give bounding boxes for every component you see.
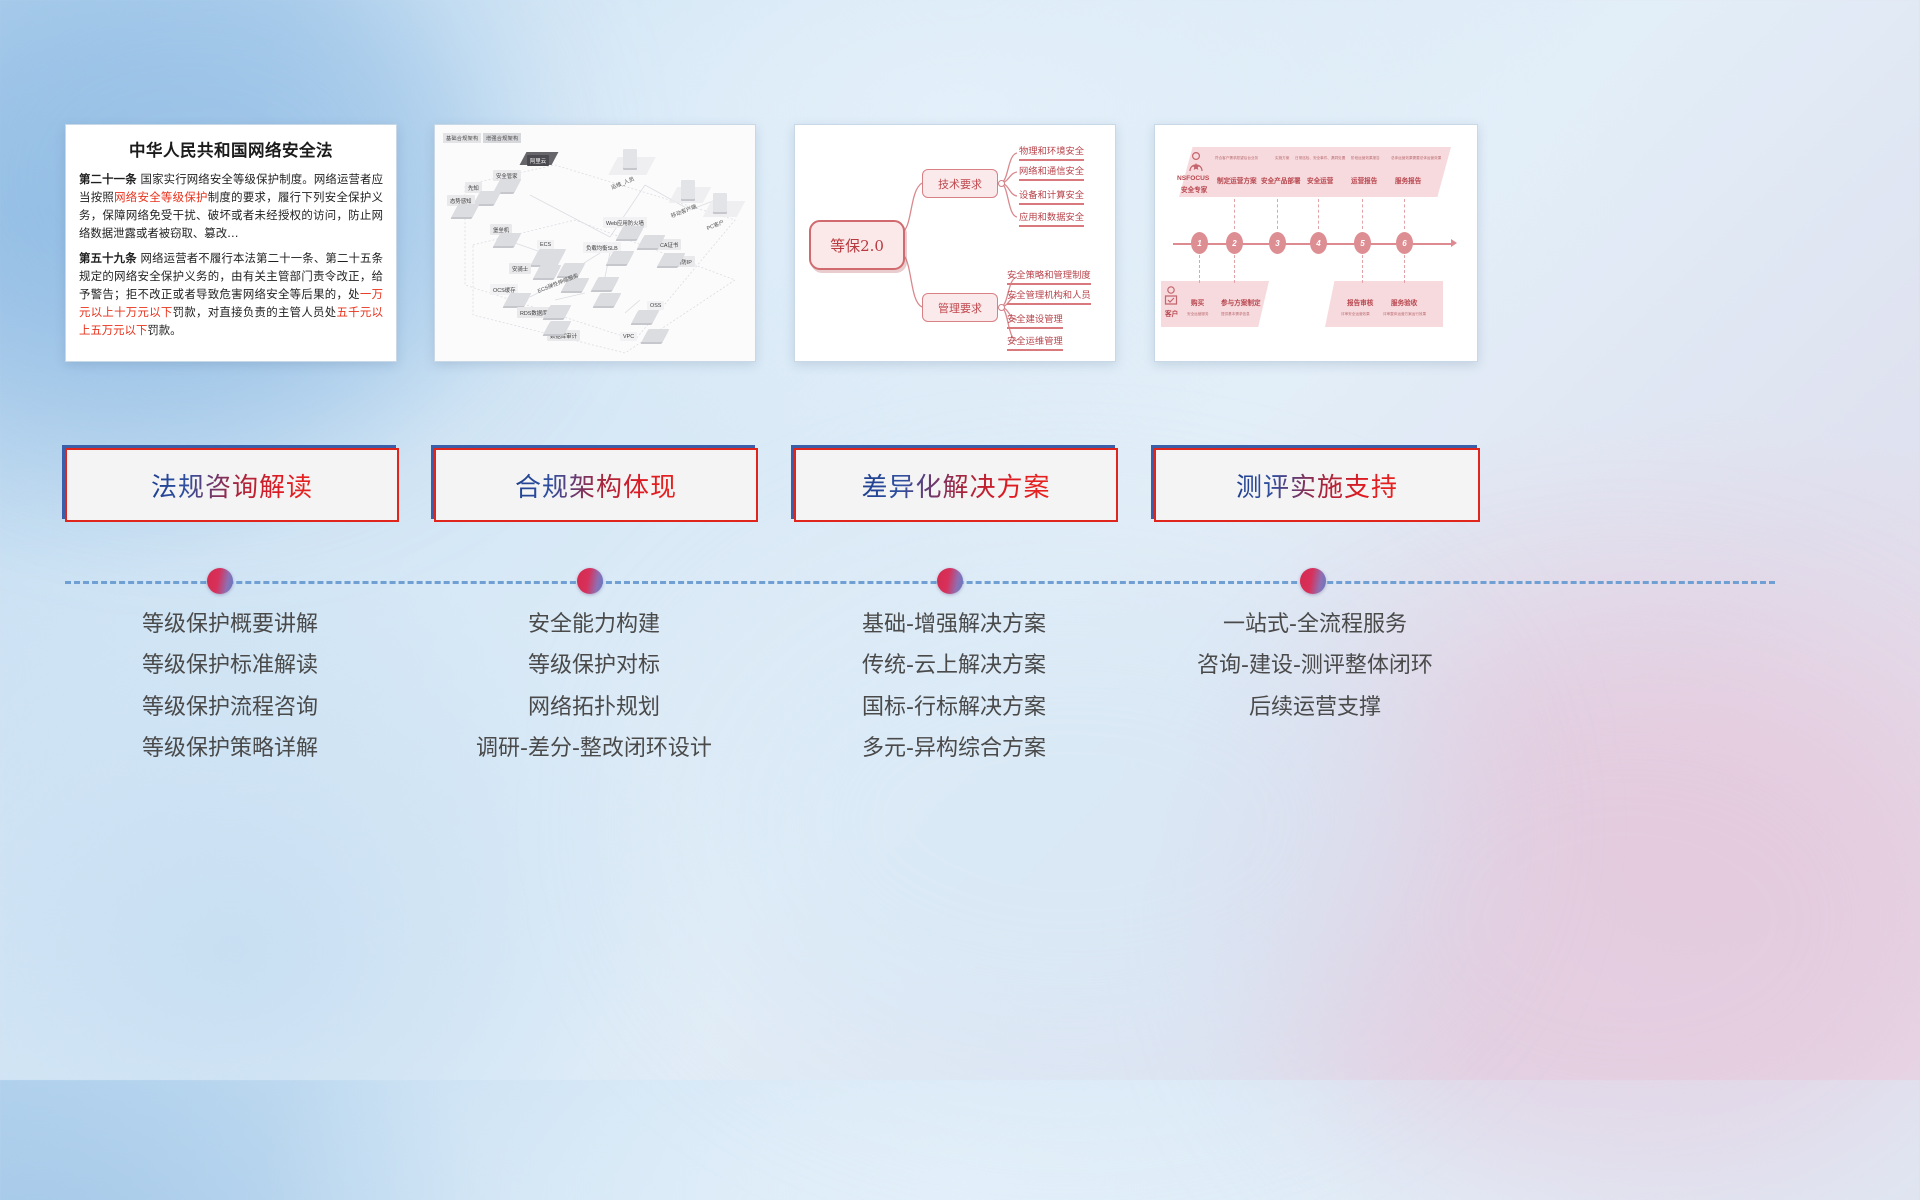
timeline-node-1[interactable]: 1 [1191,232,1208,254]
card-compliance-architecture: 基础合规架构 增强合规架构 阿里云 安全管家 先知 态势感知 堡垒机 ECS 安… [434,124,756,362]
mindmap-leaf-application: 应用和数据安全 [1019,209,1084,227]
customer-label: 客户 [1165,308,1178,318]
law-title: 中华人民共和国网络安全法 [79,137,383,161]
bottom-step-2-sub: 提供基本需求信息 [1221,312,1250,317]
timeline-marker-2[interactable] [577,568,603,594]
mindmap-leaf-org: 安全管理机构和人员 [1007,287,1091,305]
top-step-2-title: 安全产品部署 [1261,175,1301,185]
list-item: 一站式-全流程服务 [1150,604,1480,645]
mindmap-leaf-network: 网络和通信安全 [1019,163,1084,181]
top-step-3-title: 安全运营 [1307,175,1333,185]
title-boxes-row: 法规咨询解读 合规架构体现 差异化解决方案 测评实施支持 [0,448,1920,520]
mindmap-leaf-construction: 安全建设管理 [1007,311,1063,329]
card-dengbao-mindmap: 等保2.0 技术要求 物理和环境安全 网络和通信安全 设备和计算安全 应用和数据… [794,124,1116,362]
bottom-step-3-title: 报告审核 [1347,297,1373,307]
timeline-marker-4[interactable] [1300,568,1326,594]
timeline-node-5[interactable]: 5 [1354,232,1371,254]
law-article-59-mid: 罚款，对直接负责的主管人员处 [173,305,337,319]
mindmap-collapse-icon[interactable] [998,180,1005,187]
mindmap-leaf-physical: 物理和环境安全 [1019,143,1084,161]
mindmap-leaf-device: 设备和计算安全 [1019,187,1084,205]
law-article-59-post: 罚款。 [147,323,181,337]
expert-label-brand: NSFOCUS [1177,175,1209,182]
list-item: 多元-异构综合方案 [794,728,1114,769]
list-item: 安全能力构建 [434,604,754,645]
mindmap-branch-technical: 技术要求 [922,169,998,198]
law-article-21: 第二十一条 国家实行网络安全等级保护制度。网络运营者应当按照网络安全等级保护制度… [79,170,383,242]
card-cybersecurity-law: 中华人民共和国网络安全法 第二十一条 国家实行网络安全等级保护制度。网络运营者应… [65,124,397,362]
bottom-step-1-title: 购买 [1191,297,1204,307]
bottom-step-4-sub: 评审整体运营方案运行效果 [1383,312,1426,317]
mindmap-collapse-icon-2[interactable] [998,304,1005,311]
bottom-step-4-title: 服务验收 [1391,297,1417,307]
timeline-arrow-icon [1451,239,1457,247]
architecture-diagram: 基础合规架构 增强合规架构 阿里云 安全管家 先知 态势感知 堡垒机 ECS 安… [435,125,755,361]
mindmap-leaf-policy: 安全策略和管理制度 [1007,267,1091,285]
top-step-4-title: 运营报告 [1351,175,1377,185]
list-item: 传统-云上解决方案 [794,645,1114,686]
title-label-2: 合规架构体现 [515,467,677,504]
column-assessment-support: 一站式-全流程服务 咨询-建设-测评整体闭环 后续运营支撑 [1150,604,1480,728]
top-step-1-sub: 符合客户需求愿望后台业务 [1215,156,1258,161]
progress-timeline [0,570,1920,594]
list-item: 等级保护流程咨询 [65,687,395,728]
top-step-2-sub: 实施方案 [1275,156,1289,161]
title-label-1: 法规咨询解读 [151,467,313,504]
bottom-step-1-sub: 安全运营服务 [1187,312,1209,317]
arch-tab-enhanced[interactable]: 增强合规架构 [483,133,521,143]
bottom-step-3-sub: 评审安全运营效果 [1341,312,1370,317]
timeline-node-2[interactable]: 2 [1226,232,1243,254]
column-compliance-architecture: 安全能力构建 等级保护对标 网络拓扑规划 调研-差分-整改闭环设计 [434,604,754,769]
expert-person-icon [1187,151,1205,173]
top-step-4-sub: 阶段运营效果报告 [1351,156,1380,161]
list-item: 后续运营支撑 [1150,687,1480,728]
title-box-assessment-support[interactable]: 测评实施支持 [1154,448,1480,522]
list-item: 等级保护概要讲解 [65,604,395,645]
arch-node-ecs: ECS [537,240,554,249]
title-box-differentiated-solutions[interactable]: 差异化解决方案 [794,448,1118,522]
customer-person-icon [1163,285,1179,307]
timeline-node-6[interactable]: 6 [1396,232,1413,254]
column-regulation-consulting: 等级保护概要讲解 等级保护标准解读 等级保护流程咨询 等级保护策略详解 [65,604,395,769]
illustration-cards-row: 中华人民共和国网络安全法 第二十一条 国家实行网络安全等级保护制度。网络运营者应… [0,124,1920,364]
expert-label-role: 安全专家 [1181,184,1207,194]
nsfocus-timeline: NSFOCUS 安全专家 符合客户需求愿望后台业务 制定运营方案 实施方案 安全… [1155,125,1477,361]
timeline-marker-3[interactable] [937,568,963,594]
column-differentiated-solutions: 基础-增强解决方案 传统-云上解决方案 国标-行标解决方案 多元-异构综合方案 [794,604,1114,769]
top-step-1-title: 制定运营方案 [1217,175,1257,185]
top-step-3-sub: 日常巡检、安全事件、漏洞处置 [1295,156,1345,161]
top-step-5-sub: 总体运营效果需要总体运营效果 [1391,156,1441,161]
mindmap: 等保2.0 技术要求 物理和环境安全 网络和通信安全 设备和计算安全 应用和数据… [795,125,1115,361]
list-item: 咨询-建设-测评整体闭环 [1150,645,1480,686]
top-step-5-title: 服务报告 [1395,175,1421,185]
mindmap-root: 等保2.0 [809,220,905,270]
law-document: 中华人民共和国网络安全法 第二十一条 国家实行网络安全等级保护制度。网络运营者应… [66,125,396,361]
list-item: 等级保护标准解读 [65,645,395,686]
title-box-compliance-architecture[interactable]: 合规架构体现 [434,448,758,522]
mindmap-branch-management: 管理要求 [922,293,998,322]
title-label-3: 差异化解决方案 [861,467,1050,504]
timeline-dashed-line [65,581,1775,584]
law-article-59: 第五十九条 网络运营者不履行本法第二十一条、第二十五条规定的网络安全保护义务的，… [79,249,383,339]
card-nsfocus-service-timeline: NSFOCUS 安全专家 符合客户需求愿望后台业务 制定运营方案 实施方案 安全… [1154,124,1478,362]
title-box-regulation-consulting[interactable]: 法规咨询解读 [65,448,399,522]
timeline-node-3[interactable]: 3 [1269,232,1286,254]
timeline-node-4[interactable]: 4 [1310,232,1327,254]
timeline-top-band [1179,147,1451,197]
arch-node-aliyun: 阿里云 [527,155,549,166]
law-article-21-highlight: 网络安全等级保护 [114,190,208,204]
timeline-bottom-band-right [1325,281,1443,327]
list-item: 网络拓扑规划 [434,687,754,728]
arch-node-anqishi: 安骑士 [509,263,531,274]
list-item: 国标-行标解决方案 [794,687,1114,728]
arch-node-vpc: VPC [620,332,637,341]
title-label-4: 测评实施支持 [1236,467,1398,504]
mindmap-leaf-operations: 安全运维管理 [1007,333,1063,351]
timeline-marker-1[interactable] [207,568,233,594]
list-item: 等级保护策略详解 [65,728,395,769]
law-article-21-label: 第二十一条 [79,172,137,186]
arch-node-oss: OSS [647,301,664,310]
list-item: 基础-增强解决方案 [794,604,1114,645]
bottom-step-2-title: 参与方案制定 [1221,297,1261,307]
list-item: 等级保护对标 [434,645,754,686]
list-item: 调研-差分-整改闭环设计 [434,728,754,769]
law-article-59-label: 第五十九条 [79,251,137,265]
arch-tab-basic[interactable]: 基础合规架构 [443,133,481,143]
